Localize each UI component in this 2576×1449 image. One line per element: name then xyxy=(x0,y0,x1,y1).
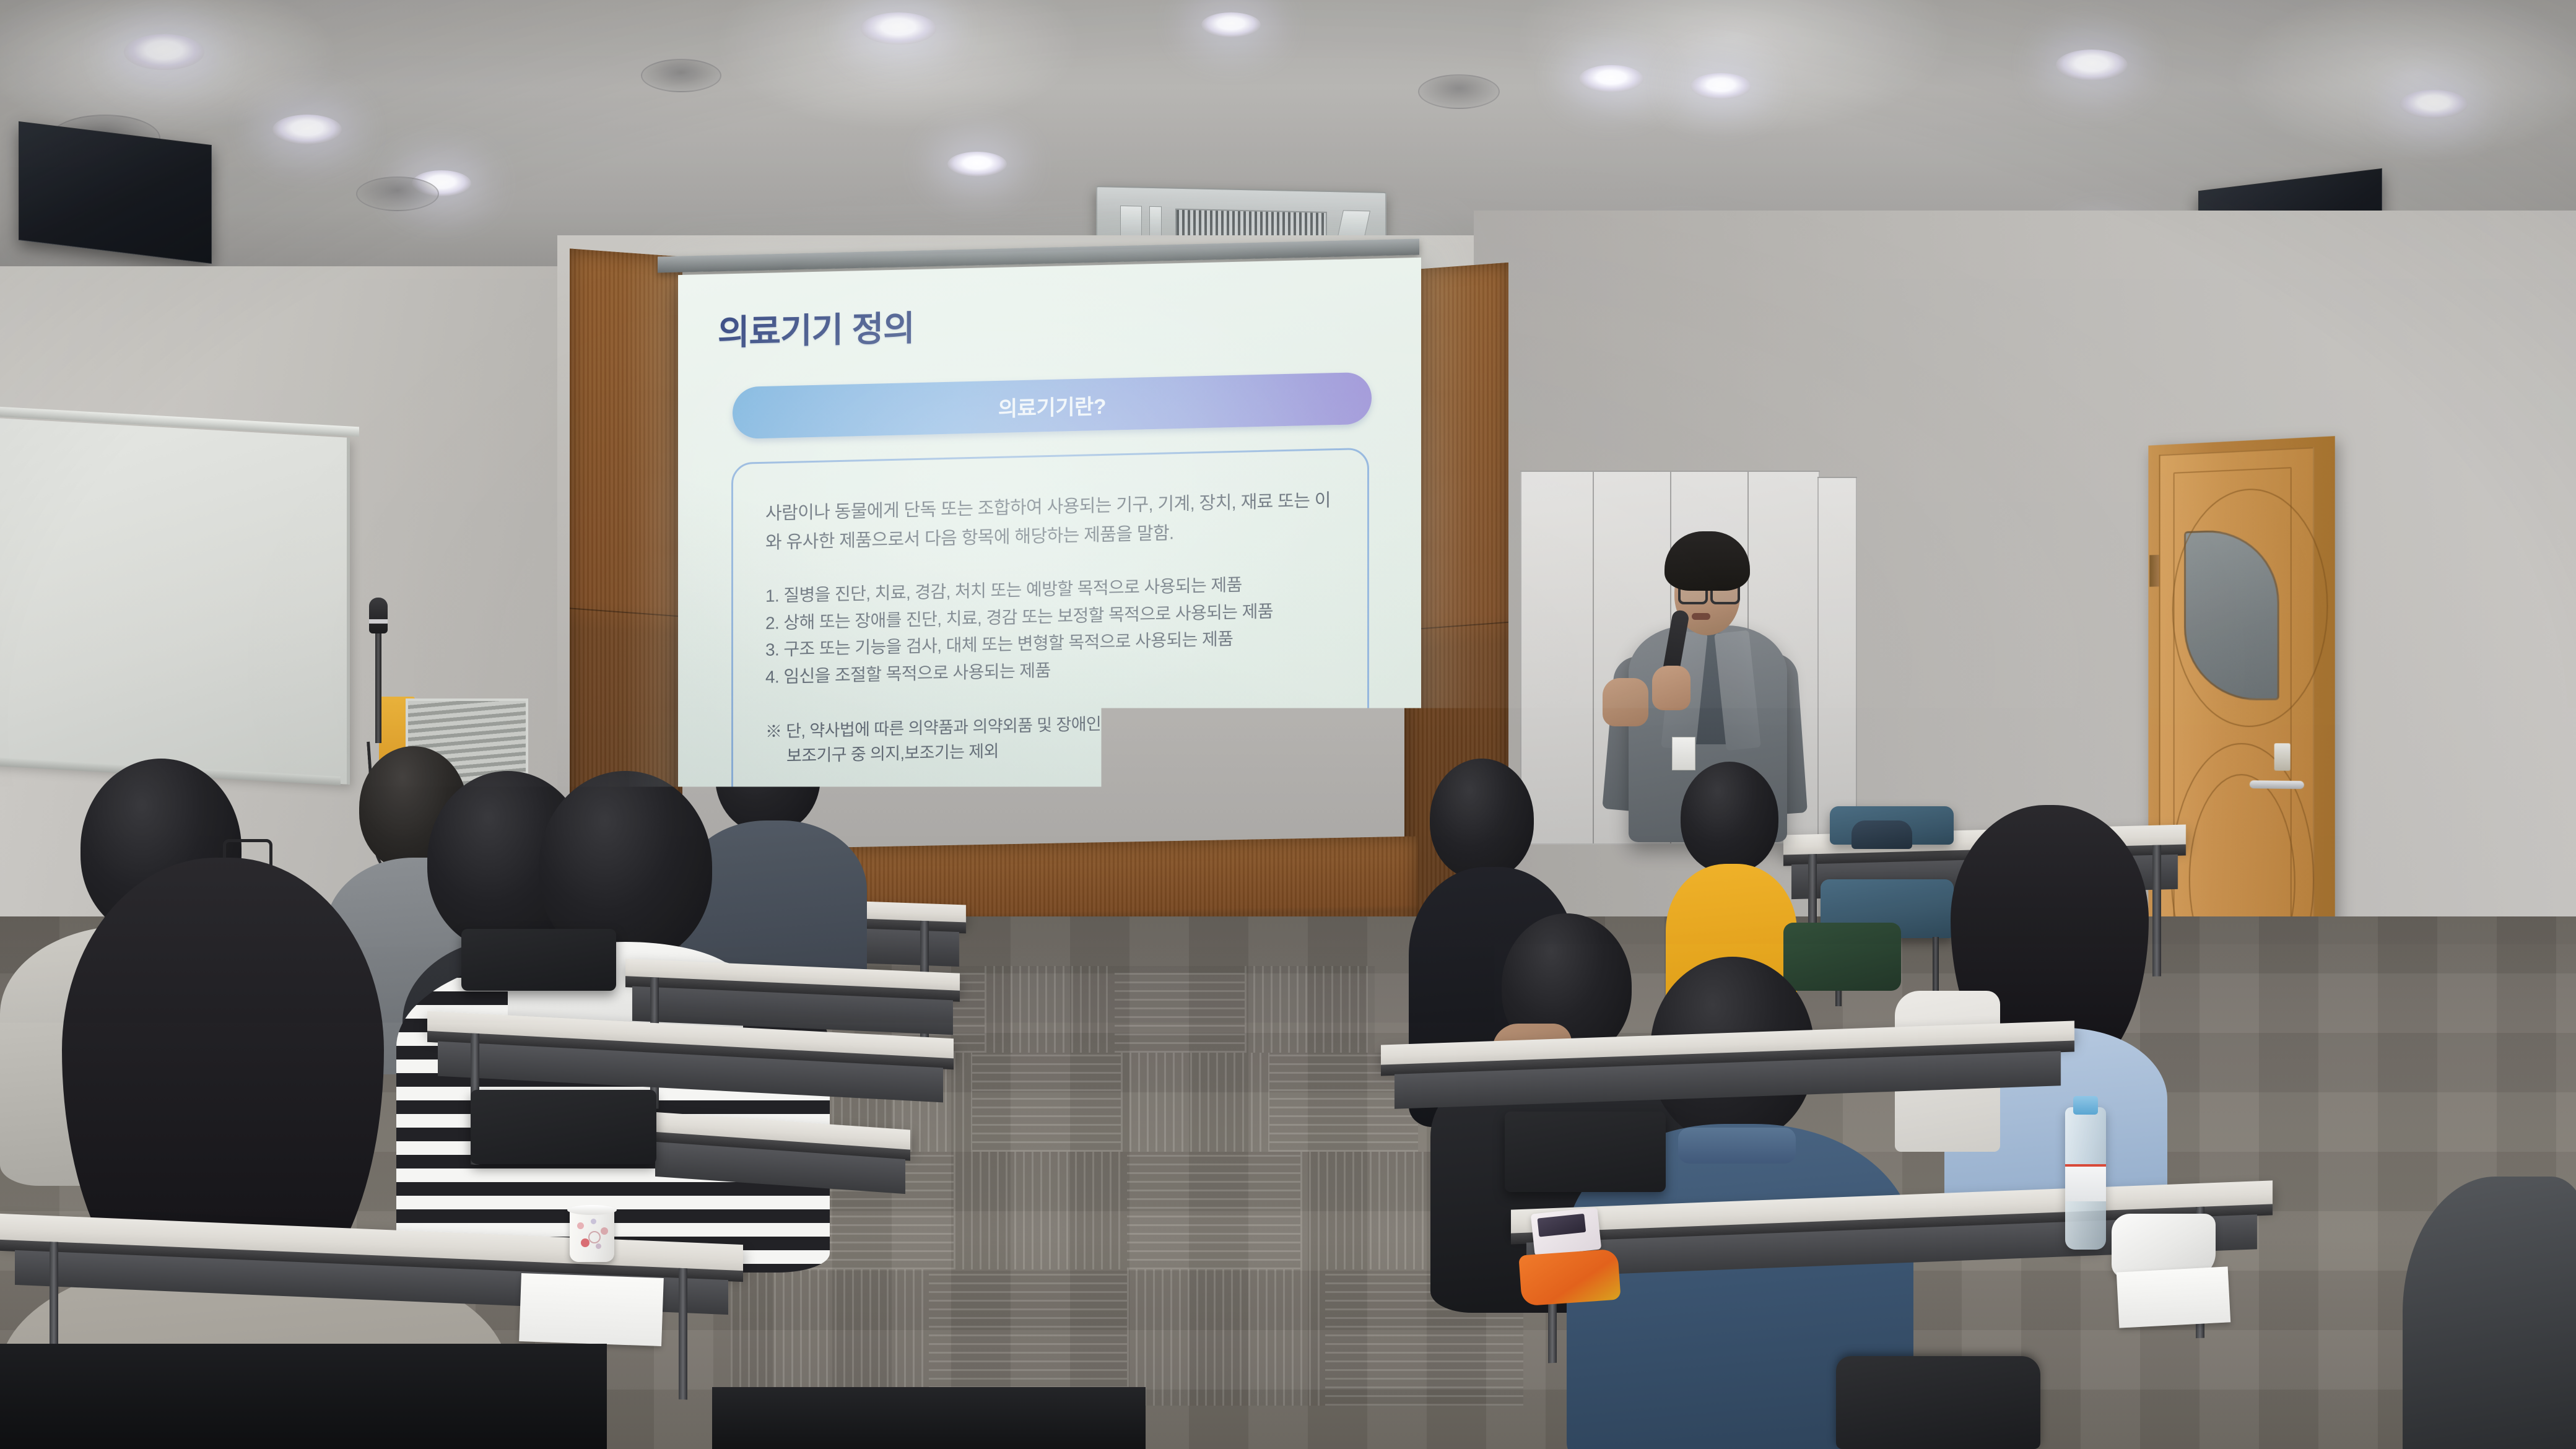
carpet-tile xyxy=(1115,966,1245,1053)
wall-cabinet xyxy=(1817,477,1857,845)
microphone-head-icon xyxy=(369,598,388,633)
carpet-tile xyxy=(1127,1152,1300,1269)
foreground-person-silhouette xyxy=(2403,1177,2576,1449)
slide-footnote: ※ 단, 약사법에 따른 의약품과 의약외품 및 장애인복지법, 제65조에 따… xyxy=(765,706,1335,770)
dark-chair[interactable] xyxy=(461,929,616,991)
slide-banner: 의료기기란? xyxy=(733,372,1372,439)
paper-cup xyxy=(570,1209,614,1262)
carpet-tile xyxy=(1127,1269,1325,1406)
ceiling-downlight xyxy=(272,115,342,144)
green-bag xyxy=(1783,923,1901,991)
microphone-band xyxy=(369,619,388,624)
slide-title: 의료기기 정의 xyxy=(718,289,1396,355)
presenter-hand-holding-mic xyxy=(1652,666,1690,710)
slide-content-box: 사람이나 동물에게 단독 또는 조합하여 사용되는 기구, 기계, 장치, 재료… xyxy=(731,448,1369,834)
smartphone-on-desk[interactable] xyxy=(1531,1207,1602,1256)
cup-dot xyxy=(591,1219,596,1224)
lecture-room-photo: 의료기기 정의 의료기기란? 사람이나 동물에게 단독 또는 조합하여 사용되는… xyxy=(0,0,2576,1449)
orange-cloth xyxy=(1518,1249,1621,1307)
paper-sheet xyxy=(2117,1266,2230,1328)
presenter-mouth xyxy=(1692,613,1710,620)
carpet-tile xyxy=(929,1269,1127,1406)
cup-dot xyxy=(601,1227,608,1235)
cap-on-desk xyxy=(1851,820,1912,849)
carpet-tile xyxy=(972,1053,1121,1152)
ceiling-downlight xyxy=(947,152,1007,176)
ceiling-downlight xyxy=(1690,73,1751,99)
door-handle[interactable] xyxy=(2250,780,2304,789)
cup-dot xyxy=(596,1243,601,1249)
ceiling-downlight xyxy=(861,12,936,45)
ceiling-speaker-left xyxy=(19,121,212,264)
carpet-tile xyxy=(1121,1053,1269,1152)
black-bag xyxy=(1836,1356,2040,1449)
carpet-tile xyxy=(985,966,1115,1053)
projector-screen: 의료기기 정의 의료기기란? 사람이나 동물에게 단독 또는 조합하여 사용되는… xyxy=(678,258,1421,851)
door-lock-icon[interactable] xyxy=(2274,743,2291,771)
attendee-head xyxy=(1430,759,1534,879)
ceiling-downlight xyxy=(1201,12,1261,37)
table-leg xyxy=(2152,845,2161,977)
water-bottle-label xyxy=(2065,1164,2106,1201)
paper-sheet xyxy=(519,1273,664,1346)
door-slab xyxy=(2159,447,2315,994)
foreground-chair-back xyxy=(712,1387,1146,1449)
dark-chair[interactable] xyxy=(471,1090,656,1164)
carpet-tile xyxy=(731,1269,929,1406)
slide-item-list: 1. 질병을 진단, 치료, 경감, 처치 또는 예방할 목적으로 사용되는 제… xyxy=(765,569,1335,690)
ceiling-downlight xyxy=(1579,65,1643,92)
dark-chair[interactable] xyxy=(1505,1112,1666,1192)
attendee-head xyxy=(1681,762,1778,873)
ceiling-downlight xyxy=(124,34,204,70)
table-leg xyxy=(679,1268,687,1400)
slide-banner-text: 의료기기란? xyxy=(998,389,1106,422)
slide-intro-text: 사람이나 동물에게 단독 또는 조합하여 사용되는 기구, 기계, 장치, 재료… xyxy=(765,486,1335,558)
carpet-tile xyxy=(1245,966,1375,1053)
carpet-tile xyxy=(954,1152,1127,1269)
water-bottle-cap xyxy=(2073,1096,2098,1115)
foreground-chair-back xyxy=(0,1344,607,1449)
presenter-gesturing-hand xyxy=(1603,678,1648,726)
cup-dot xyxy=(588,1231,601,1243)
denim-collar xyxy=(1678,1128,1796,1164)
ceiling-downlight xyxy=(2400,90,2468,118)
phone-screen xyxy=(1538,1214,1586,1237)
ceiling-recessed-fixture xyxy=(641,59,721,92)
cup-dot xyxy=(577,1222,584,1229)
name-tag xyxy=(1672,737,1695,770)
presentation-slide: 의료기기 정의 의료기기란? 사람이나 동물에게 단독 또는 조합하여 사용되는… xyxy=(678,258,1421,851)
ceiling-downlight xyxy=(2056,50,2128,80)
door-hinge xyxy=(2149,555,2159,587)
whiteboard xyxy=(0,417,350,785)
ceiling-recessed-fixture xyxy=(1418,74,1500,109)
ceiling-recessed-fixture xyxy=(356,176,439,211)
